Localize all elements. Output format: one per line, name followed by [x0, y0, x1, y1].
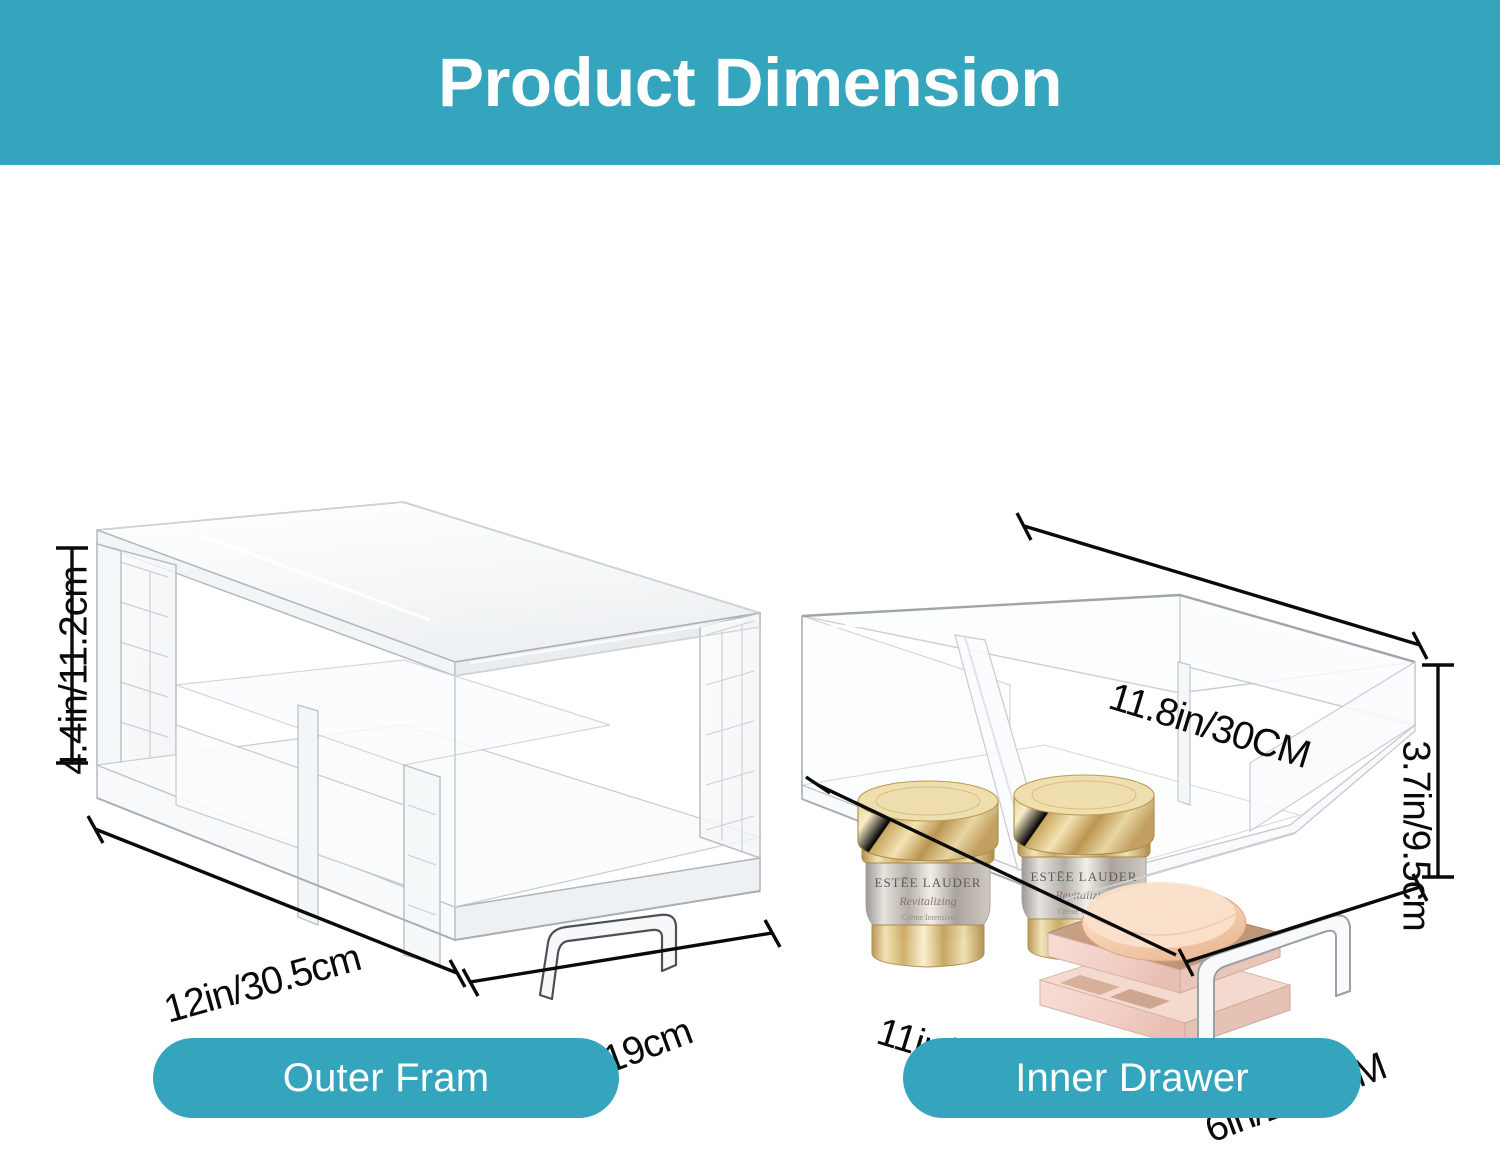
- outer-frame-box: [97, 502, 760, 999]
- illustration-stage: ESTĒE LAUDER Revitalizing Crème Intensiv…: [0, 165, 1500, 1133]
- caption-pill-inner-drawer: Inner Drawer: [903, 1038, 1361, 1118]
- caption-pill-inner-drawer-label: Inner Drawer: [1015, 1058, 1249, 1098]
- page-title: Product Dimension: [438, 48, 1062, 117]
- dimension-label-outer-height: 4.4in/11.2cm: [55, 521, 94, 821]
- svg-text:Revitalizing: Revitalizing: [898, 894, 956, 908]
- caption-pill-outer-frame: Outer Fram: [153, 1038, 619, 1118]
- gold-cream-jar-left: ESTĒE LAUDER Revitalizing Crème Intensiv…: [858, 781, 998, 967]
- drawer-handle: [540, 915, 676, 999]
- svg-text:Crème Intensive: Crème Intensive: [902, 913, 955, 922]
- dimension-label-inner-height: 3.7in/9.5cm: [1397, 706, 1436, 966]
- header-banner: Product Dimension: [0, 0, 1500, 165]
- caption-pill-outer-frame-label: Outer Fram: [283, 1058, 489, 1098]
- svg-text:ESTĒE LAUDER: ESTĒE LAUDER: [875, 875, 982, 890]
- svg-text:ESTĒE LAUDER: ESTĒE LAUDER: [1031, 869, 1138, 884]
